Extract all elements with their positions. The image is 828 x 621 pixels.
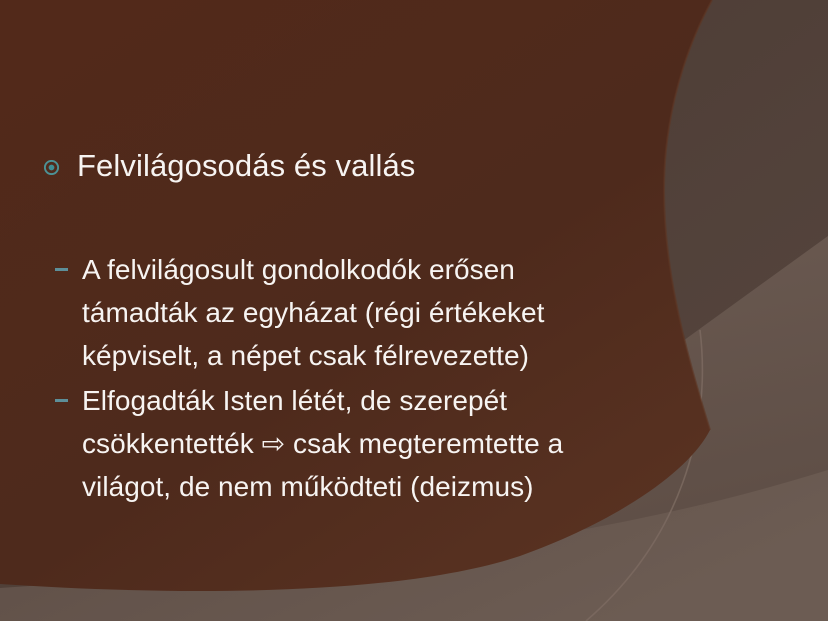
slide-content: Felvilágosodás és vallás A felvilágosult… — [0, 0, 828, 621]
bullet-line: csökkentették ⇨ csak megteremtette a — [82, 422, 755, 465]
title-bullet-row: Felvilágosodás és vallás — [44, 146, 415, 186]
bullet-line: képviselt, a népet csak félrevezette) — [82, 334, 755, 377]
list-item: Elfogadták Isten létét, de szerepét csök… — [55, 379, 755, 508]
page-title: Felvilágosodás és vallás — [77, 146, 415, 186]
list-item-text: Elfogadták Isten létét, de szerepét csök… — [82, 379, 755, 508]
dash-bullet-icon — [55, 398, 68, 403]
bullet-line: Elfogadták Isten létét, de szerepét — [82, 379, 755, 422]
bullet-list: A felvilágosult gondolkodók erősen támad… — [55, 248, 755, 510]
list-item: A felvilágosult gondolkodók erősen támad… — [55, 248, 755, 377]
bullet-line: A felvilágosult gondolkodók erősen — [82, 248, 755, 291]
dash-bullet-icon — [55, 267, 68, 272]
ring-bullet-icon — [44, 160, 59, 175]
list-item-text: A felvilágosult gondolkodók erősen támad… — [82, 248, 755, 377]
presentation-slide: Felvilágosodás és vallás A felvilágosult… — [0, 0, 828, 621]
bullet-line: világot, de nem működteti (deizmus) — [82, 465, 755, 508]
bullet-line: támadták az egyházat (régi értékeket — [82, 291, 755, 334]
